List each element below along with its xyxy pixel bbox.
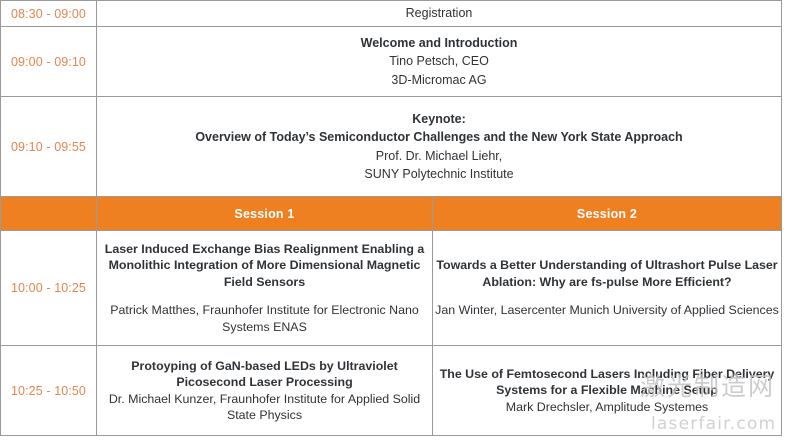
talk-cell-session1: Laser Induced Exchange Bias Realignment … — [97, 231, 433, 346]
talk-title: Towards a Better Understanding of Ultras… — [433, 257, 781, 290]
session-header-1: Session 1 — [97, 197, 433, 231]
talk-title: The Use of Femtosecond Lasers Including … — [433, 366, 781, 399]
table-row: 10:00 - 10:25 Laser Induced Exchange Bia… — [1, 231, 782, 346]
table-row: 09:10 - 09:55 Keynote: Overview of Today… — [1, 97, 782, 197]
table-row: 08:30 - 09:00 Registration — [1, 1, 782, 27]
talk-title: Laser Induced Exchange Bias Realignment … — [97, 241, 432, 290]
spacer — [97, 290, 432, 302]
talk-cell-session2: The Use of Femtosecond Lasers Including … — [433, 346, 782, 436]
talk-speaker: Dr. Michael Kunzer, Fraunhofer Institute… — [97, 391, 432, 424]
talk-title: Protoyping of GaN-based LEDs by Ultravio… — [97, 358, 432, 391]
entry-speaker: Prof. Dr. Michael Liehr, — [97, 147, 781, 165]
table-row: 09:00 - 09:10 Welcome and Introduction T… — [1, 27, 782, 97]
talk-cell-session1: Protoyping of GaN-based LEDs by Ultravio… — [97, 346, 433, 436]
entry-speaker: Tino Petsch, CEO — [97, 52, 781, 70]
time-slot: 10:25 - 10:50 — [1, 346, 97, 436]
entry-title: Welcome and Introduction — [97, 34, 781, 52]
agenda-entry-welcome: Welcome and Introduction Tino Petsch, CE… — [97, 27, 782, 97]
table-row: 10:25 - 10:50 Protoyping of GaN-based LE… — [1, 346, 782, 436]
talk-speaker: Patrick Matthes, Fraunhofer Institute fo… — [97, 302, 432, 335]
talk-speaker: Jan Winter, Lasercenter Munich Universit… — [433, 302, 781, 318]
conference-agenda-table: 08:30 - 09:00 Registration 09:00 - 09:10… — [0, 0, 782, 436]
talk-cell-session2: Towards a Better Understanding of Ultras… — [433, 231, 782, 346]
entry-affiliation: SUNY Polytechnic Institute — [97, 165, 781, 183]
session-header-row: Session 1 Session 2 — [1, 197, 782, 231]
agenda-table-container: 08:30 - 09:00 Registration 09:00 - 09:10… — [0, 0, 787, 440]
entry-label: Keynote: — [97, 110, 781, 128]
agenda-entry-keynote: Keynote: Overview of Today’s Semiconduct… — [97, 97, 782, 197]
agenda-entry-registration: Registration — [97, 1, 782, 27]
session-header-blank — [1, 197, 97, 231]
time-slot: 09:10 - 09:55 — [1, 97, 97, 197]
time-slot: 08:30 - 09:00 — [1, 1, 97, 27]
entry-affiliation: 3D-Micromac AG — [97, 71, 781, 89]
time-slot: 09:00 - 09:10 — [1, 27, 97, 97]
entry-title: Overview of Today’s Semiconductor Challe… — [97, 128, 781, 146]
spacer — [433, 290, 781, 302]
talk-speaker: Mark Drechsler, Amplitude Systemes — [433, 399, 781, 415]
time-slot: 10:00 - 10:25 — [1, 231, 97, 346]
session-header-2: Session 2 — [433, 197, 782, 231]
